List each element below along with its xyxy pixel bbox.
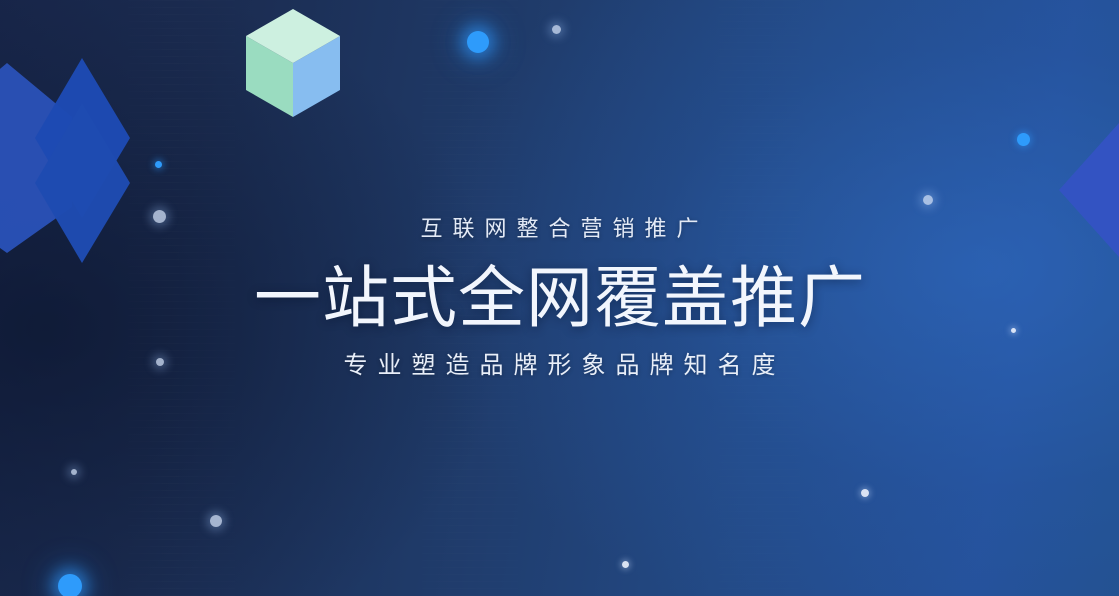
particle-blue-large-top [467, 31, 489, 53]
hex-right-edge-icon [1059, 95, 1119, 285]
background-line-texture [0, 0, 1119, 596]
particle-soft-left-low [71, 469, 77, 475]
hero-banner: 互联网整合营销推广 一站式全网覆盖推广 专业塑造品牌形象品牌知名度 [0, 0, 1119, 596]
cube-logo-icon [244, 7, 342, 119]
particle-white-bottom-right [861, 489, 869, 497]
particle-soft-left-mid [156, 358, 164, 366]
particle-blue-right [1017, 133, 1030, 146]
particle-white-mid-right [1011, 328, 1016, 333]
particle-white-top [552, 25, 561, 34]
particle-blue-bottom-left [58, 574, 82, 596]
hex-left-lower-icon [35, 58, 130, 268]
particle-soft-center-low [210, 515, 222, 527]
particle-soft-right [923, 195, 933, 205]
particle-soft-left-upper [153, 210, 166, 223]
particle-white-bottom-mid [622, 561, 629, 568]
particle-blue-small-left [155, 161, 162, 168]
